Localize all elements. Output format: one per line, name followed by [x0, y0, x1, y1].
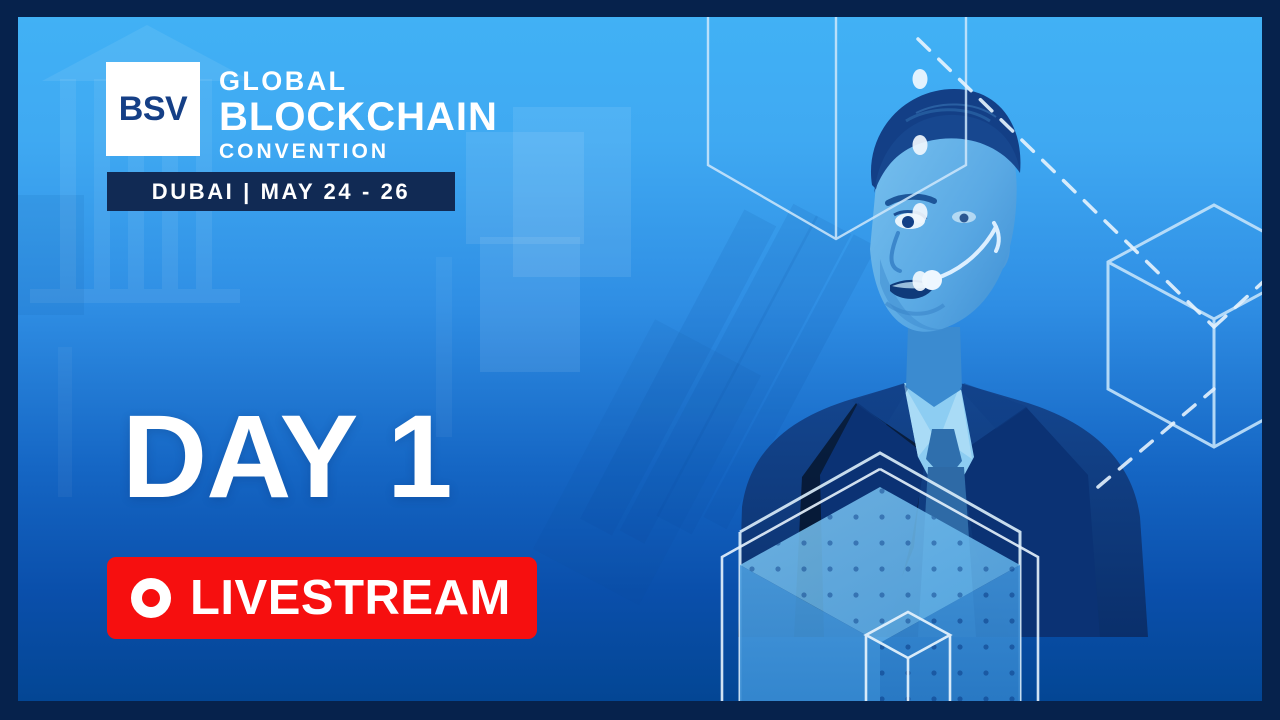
poster-canvas: BSV GLOBAL BLOCKCHAIN CONVENTION DUBAI |…	[18, 17, 1262, 701]
poster-frame: BSV GLOBAL BLOCKCHAIN CONVENTION DUBAI |…	[0, 0, 1280, 720]
date-location-bar: DUBAI | MAY 24 - 26	[107, 172, 455, 211]
wordmark-line-global: GLOBAL	[219, 68, 498, 95]
wordmark-line-blockchain: BLOCKCHAIN	[219, 96, 498, 138]
livestream-label: LIVESTREAM	[190, 574, 511, 623]
bsv-logomark[interactable]: BSV	[106, 62, 200, 156]
speaker-photo	[728, 77, 1168, 637]
wordmark-line-convention: CONVENTION	[219, 140, 498, 163]
accent-block	[58, 347, 72, 497]
date-location-text: DUBAI | MAY 24 - 26	[152, 179, 411, 205]
accent-block	[480, 237, 580, 372]
event-wordmark: GLOBAL BLOCKCHAIN CONVENTION	[219, 68, 498, 163]
low-building-silhouette	[18, 195, 84, 315]
livestream-badge[interactable]: LIVESTREAM	[107, 557, 537, 639]
record-circle-icon	[131, 578, 171, 618]
bsv-logo-text: BSV	[119, 92, 187, 126]
day-headline: DAY 1	[122, 398, 452, 516]
